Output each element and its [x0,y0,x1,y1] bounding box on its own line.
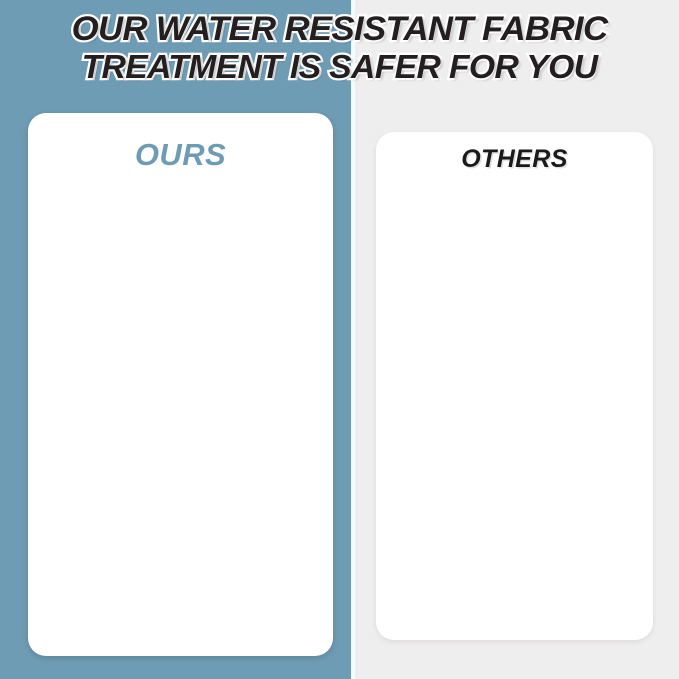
others-card: OTHERS [376,132,653,640]
panel-divider [351,0,355,679]
others-card-title: OTHERS [376,145,653,174]
ours-card-title: OURS [28,137,333,173]
ours-card: OURS [28,113,333,656]
comparison-infographic: OUR WATER RESISTANT FABRIC TREATMENT IS … [0,0,679,679]
